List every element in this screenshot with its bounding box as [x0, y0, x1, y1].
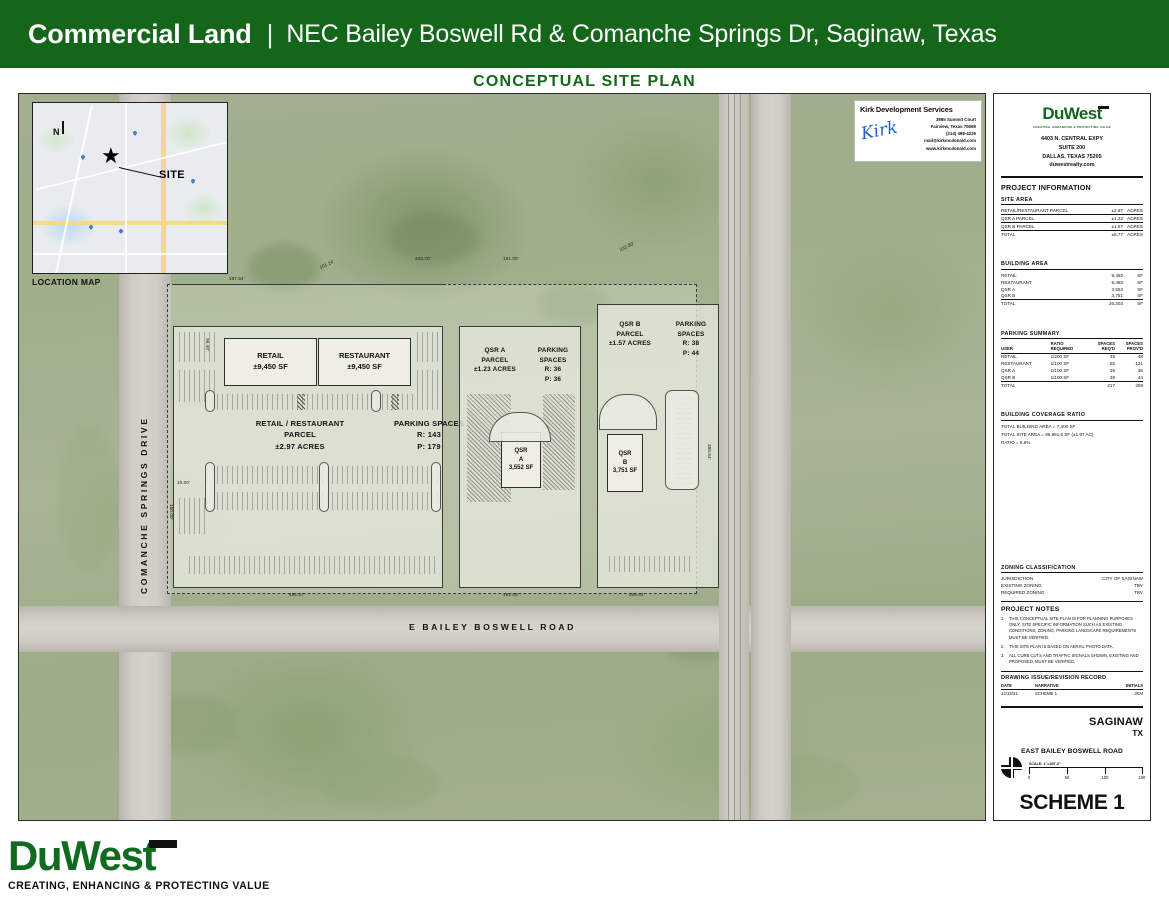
cell-ratio: 1/200 SF [1051, 353, 1088, 360]
duwest-logo-tagline: CREATING, ENHANCING & PROTECTING VALUE [1001, 125, 1143, 129]
rail-line [728, 94, 729, 820]
cell-unit: SF [1123, 286, 1143, 293]
parking-title1: PARKING [525, 346, 581, 356]
north-arrow-icon: N [53, 127, 60, 137]
titleblock-project-name: EAST BAILEY BOSWELL ROAD [1001, 748, 1143, 755]
note-text: THIS SITE PLAN IS BASED ON AERIAL PHOTO … [1009, 644, 1114, 650]
map-pin [132, 130, 138, 136]
site-star-icon: ★ [101, 145, 121, 167]
kirk-development-logo-box: Kirk Development Services Kirk 3985 Summ… [854, 100, 982, 162]
rail-line [734, 94, 735, 820]
qsr-b-parking-label: PARKING SPACES R: 38 P: 44 [663, 320, 719, 358]
dimension-101: 101.24' [319, 259, 335, 270]
cell-unit: ACRES [1123, 222, 1143, 230]
cell-value: ±5.77 [1105, 230, 1123, 237]
address-line2: SUITE 200 [1001, 144, 1143, 153]
revision-initials: JKM [1123, 691, 1143, 696]
project-note: 1. THIS CONCEPTUAL SITE PLAN IS FOR PLAN… [1001, 616, 1143, 641]
cell-value: 3,552 [1085, 286, 1123, 293]
qsr-a-letter: A [519, 456, 523, 465]
qsr-a-label: QSR [514, 447, 527, 456]
parking-stalls [179, 332, 219, 362]
restaurant-building-area: ±9,450 SF [347, 362, 382, 373]
duwest-logo-word: DuWest [1042, 104, 1101, 124]
parking-required: R: 36 [525, 365, 581, 375]
restaurant-building: RESTAURANT ±9,450 SF [318, 338, 411, 386]
parking-island [431, 462, 441, 512]
duwest-address-block: 4403 N. CENTRAL EXPY SUITE 200 DALLAS, T… [1001, 135, 1143, 170]
zoning-row: JURISDICTION CITY OF SAGINAW [1001, 576, 1143, 583]
project-note: 2. THIS SITE PLAN IS BASED ON AERIAL PHO… [1001, 644, 1143, 650]
zoning-label: JURISDICTION [1001, 576, 1033, 581]
cell-value: ±1.57 [1105, 222, 1123, 230]
titleblock-state: TX [1001, 728, 1143, 738]
cell-ratio [1051, 381, 1088, 388]
cell-user: QSR B [1001, 374, 1051, 381]
dimension-10: 10.00' [177, 480, 190, 485]
scale-tick-100: 100 [1101, 775, 1108, 780]
cell-label: TOTAL [1001, 300, 1085, 307]
crosswalk-hatch [391, 394, 399, 410]
north-arrow-stem [62, 121, 64, 134]
header-provd: SPACES PROV'D [1115, 342, 1143, 353]
cell-label: QSR B PARCEL [1001, 222, 1105, 230]
parking-provided: P: 36 [525, 375, 581, 385]
building-area-title: BUILDING AREA [1001, 261, 1143, 269]
scale-bar-wrap: SCALE: 1"=100'-0" 0 50 100 150 [1029, 762, 1143, 774]
header-ratio: RATIO REQUIRED [1051, 342, 1088, 353]
footer-tagline: CREATING, ENHANCING & PROTECTING VALUE [8, 880, 270, 892]
kirk-website: www.kirkmcdonald.com [860, 145, 976, 152]
crosswalk-hatch [297, 394, 305, 410]
revision-date: 12/15/21 [1001, 691, 1035, 696]
cell-value: ±1.23 [1105, 215, 1123, 223]
parking-island [205, 462, 215, 512]
table-row: QSR A PARCEL ±1.23 ACRES [1001, 215, 1143, 223]
zoning-title: ZONING CLASSIFICATION [1001, 565, 1143, 573]
sheet-number: SCHEME 1 [994, 791, 1150, 815]
qsr-b-label: QSR [618, 450, 631, 459]
cell-ratio: 1/100 SF [1051, 374, 1088, 381]
note-number: 2. [1001, 644, 1009, 650]
map-road [125, 103, 127, 274]
cell-label: RETAIL [1001, 272, 1085, 279]
dimension-232: 232.80' [619, 241, 635, 253]
table-header-row: USER RATIO REQUIRED SPACES REQ'D SPACES … [1001, 342, 1143, 353]
table-row: RETAIL 9,450 SF [1001, 272, 1143, 279]
parking-title2: SPACES [663, 330, 719, 340]
cell-ratio: 1/100 SF [1051, 360, 1088, 367]
parking-island [371, 390, 381, 412]
parcel-acres: ±2.97 ACRES [215, 441, 385, 452]
zoning-label: REQUIRED ZONING [1001, 590, 1044, 595]
road-label-bailey-boswell: E BAILEY BOSWELL ROAD [409, 622, 576, 632]
table-row: RESTAURANT 9,450 SF [1001, 279, 1143, 286]
dimension-208: 208.61' [629, 592, 645, 597]
scale-tick-50: 50 [1065, 775, 1070, 780]
titleblock-city: SAGINAW [1001, 716, 1143, 728]
revision-header-date: DATE [1001, 683, 1035, 688]
coverage-line1: TOTAL BUILDING AREA = 7,400 SF [1001, 423, 1143, 431]
coverage-line2: TOTAL SITE AREA = 85,981.5 SF (±1.97 AC) [1001, 431, 1143, 439]
table-row: RETAIL/RESTAURANT PARCEL ±2.97 ACRES [1001, 207, 1143, 214]
map-pin [190, 178, 196, 184]
header-reqd-l2: REQ'D [1102, 346, 1115, 351]
parcel-name2: PARCEL [463, 356, 527, 366]
zoning-value: TBV [1134, 590, 1143, 595]
cell-unit: ACRES [1123, 215, 1143, 223]
parking-stalls [609, 556, 691, 572]
parcel-name2: PARCEL [599, 330, 661, 340]
cell-reqd: 38 [1087, 374, 1115, 381]
note-text: ALL CURB CUTS AND TRAFFIC SIGNALS SHOWN,… [1009, 653, 1143, 666]
banner-subtitle: NEC Bailey Boswell Rd & Comanche Springs… [286, 20, 996, 49]
cell-label: RETAIL/RESTAURANT PARCEL [1001, 207, 1105, 214]
cell-label: QSR B [1001, 292, 1085, 299]
header-ratio-l2: REQUIRED [1051, 346, 1074, 351]
parcel-name: RETAIL / RESTAURANT [215, 418, 385, 429]
revision-header-initials: INITIALS [1123, 683, 1143, 688]
location-map-caption: LOCATION MAP [32, 277, 101, 287]
dimension-203: 203.70' [415, 256, 431, 261]
footer-logo-bar [149, 840, 177, 848]
cell-value: 26,203 [1085, 300, 1123, 307]
north-compass-icon [1001, 757, 1022, 778]
cell-unit: SF [1123, 300, 1143, 307]
cell-unit: ACRES [1123, 207, 1143, 214]
parking-island [665, 390, 699, 490]
location-map-inset: N ★ SITE [32, 102, 228, 274]
parking-island [205, 390, 215, 412]
map-pin [88, 224, 94, 230]
scale-tick-150: 150 [1138, 775, 1145, 780]
cell-user: RESTAURANT [1001, 360, 1051, 367]
map-road [55, 105, 93, 274]
field-patch [319, 754, 439, 810]
divider [1001, 176, 1143, 178]
cell-value: 9,450 [1085, 279, 1123, 286]
cell-reqd: 95 [1087, 360, 1115, 367]
address-website: duwestrealty.com [1001, 161, 1143, 170]
coverage-line3: RATIO = 8.6% [1001, 439, 1143, 447]
rail-line [740, 94, 741, 820]
parcel-acres: ±1.57 ACRES [599, 339, 661, 349]
qsr-b-building: QSR B 3,751 SF [607, 434, 643, 492]
parking-stalls [417, 332, 441, 362]
footer-logo-text: DuWest [8, 832, 155, 879]
dimension-rule [173, 284, 443, 285]
parcel-acres: ±1.23 ACRES [463, 365, 527, 375]
kirk-title: Kirk Development Services [860, 105, 976, 114]
parking-stalls [179, 498, 205, 534]
parking-summary-table: USER RATIO REQUIRED SPACES REQ'D SPACES … [1001, 342, 1143, 389]
cell-value: 3,751 [1085, 292, 1123, 299]
cell-unit: SF [1123, 279, 1143, 286]
field-patch [59, 424, 119, 574]
header-reqd: SPACES REQ'D [1087, 342, 1115, 353]
zoning-row: REQUIRED ZONING TBV [1001, 589, 1143, 596]
table-row: QSR A 3,552 SF [1001, 286, 1143, 293]
parking-stalls [189, 556, 439, 574]
cell-provd: 131 [1115, 360, 1143, 367]
cell-unit: SF [1123, 272, 1143, 279]
cell-reqd: 48 [1087, 353, 1115, 360]
retail-restaurant-parcel-label: RETAIL / RESTAURANT PARCEL ±2.97 ACRES [215, 418, 385, 452]
page-header-banner: Commercial Land | NEC Bailey Boswell Rd … [0, 0, 1169, 68]
retail-building: RETAIL ±9,450 SF [224, 338, 317, 386]
building-area-table: RETAIL 9,450 SF RESTAURANT 9,450 SF QSR … [1001, 272, 1143, 307]
parking-title1: PARKING [663, 320, 719, 330]
cell-reqd: 36 [1087, 367, 1115, 374]
parcel-name: QSR A [463, 346, 527, 356]
cell-unit: SF [1123, 292, 1143, 299]
table-row: QSR A 1/100 SF 36 36 [1001, 367, 1143, 374]
cell-label: QSR A PARCEL [1001, 215, 1105, 223]
sheet-subtitle: CONCEPTUAL SITE PLAN [0, 68, 1169, 95]
cell-reqd: 217 [1087, 381, 1115, 388]
table-row: TOTAL 217 259 [1001, 381, 1143, 388]
parking-summary-title: PARKING SUMMARY [1001, 331, 1143, 339]
cell-label: TOTAL [1001, 230, 1105, 237]
map-highway [161, 103, 166, 274]
retail-building-label: RETAIL [257, 351, 284, 362]
parking-stalls [207, 394, 439, 410]
duwest-footer-logo: DuWest CREATING, ENHANCING & PROTECTING … [8, 835, 270, 892]
site-area-table: RETAIL/RESTAURANT PARCEL ±2.97 ACRES QSR… [1001, 207, 1143, 237]
address-line1: 4403 N. CENTRAL EXPY [1001, 135, 1143, 144]
cell-provd: 44 [1115, 374, 1143, 381]
note-number: 3. [1001, 653, 1009, 666]
highway-road [751, 94, 791, 820]
dimension-150: 150.00' [169, 504, 174, 520]
cell-unit: ACRES [1123, 230, 1143, 237]
note-number: 1. [1001, 616, 1009, 641]
duwest-logo-bar [1098, 106, 1109, 109]
revision-header-row: DATE NARRATIVE INITIALS [1001, 683, 1143, 690]
project-info-panel: DuWest CREATING, ENHANCING & PROTECTING … [993, 93, 1151, 821]
scale-tick-0: 0 [1028, 775, 1030, 780]
dimension-191-bottom: 191.00' [503, 592, 519, 597]
divider [1001, 706, 1143, 708]
site-area-title: SITE AREA [1001, 197, 1143, 205]
dimension-96: 96.40' [205, 338, 210, 351]
cell-label: QSR A [1001, 286, 1085, 293]
cell-user: TOTAL [1001, 381, 1051, 388]
qsr-b-letter: B [623, 459, 627, 468]
cell-label: RESTAURANT [1001, 279, 1085, 286]
address-line3: DALLAS, TEXAS 75205 [1001, 153, 1143, 162]
qsr-a-parking-label: PARKING SPACES R: 36 P: 36 [525, 346, 581, 384]
zoning-row: EXISTING ZONING TBV [1001, 582, 1143, 589]
banner-title: Commercial Land [28, 19, 252, 50]
parcel-name: QSR B [599, 320, 661, 330]
tree-cluster [389, 214, 479, 264]
parcel-name2: PARCEL [215, 429, 385, 440]
parking-required: R: 38 [663, 339, 719, 349]
dimension-380: 380.54' [707, 444, 712, 460]
railroad-corridor [719, 94, 749, 820]
dimension-191-top: 191.00' [503, 256, 519, 261]
table-row: TOTAL ±5.77 ACRES [1001, 230, 1143, 237]
table-row: TOTAL 26,203 SF [1001, 300, 1143, 307]
parking-provided: P: 44 [663, 349, 719, 359]
qsr-b-parcel-label: QSR B PARCEL ±1.57 ACRES [599, 320, 661, 349]
header-provd-l2: PROV'D [1127, 346, 1143, 351]
table-row: QSR B 3,751 SF [1001, 292, 1143, 299]
map-pin [118, 228, 124, 234]
header-user: USER [1001, 342, 1051, 353]
qsr-b-area: 3,751 SF [613, 467, 637, 476]
cell-ratio: 1/100 SF [1051, 367, 1088, 374]
qsr-a-parcel-label: QSR A PARCEL ±1.23 ACRES [463, 346, 527, 375]
dimension-485: 485.47' [289, 592, 305, 597]
map-highway [33, 221, 228, 225]
scale-bar: 0 50 100 150 [1029, 767, 1143, 774]
cell-user: QSR A [1001, 367, 1051, 374]
table-row: RESTAURANT 1/100 SF 95 131 [1001, 360, 1143, 367]
revision-record-title: DRAWING ISSUE/REVISION RECORD [1001, 675, 1143, 681]
drawing-sheet: RETAIL ±9,450 SF RESTAURANT ±9,450 SF RE… [18, 93, 1151, 821]
footer-logo-word: DuWest [8, 835, 155, 877]
cell-value: ±2.97 [1105, 207, 1123, 214]
map-road [36, 141, 227, 190]
revision-narrative: SCHEME 1 [1035, 691, 1123, 696]
zoning-label: EXISTING ZONING [1001, 583, 1042, 588]
scale-block: SCALE: 1"=100'-0" 0 50 100 150 [1001, 757, 1143, 778]
project-notes-title: PROJECT NOTES [1001, 606, 1143, 613]
note-text: THIS CONCEPTUAL SITE PLAN IS FOR PLANNIN… [1009, 616, 1143, 641]
duwest-logo: DuWest CREATING, ENHANCING & PROTECTING … [1001, 104, 1143, 129]
cell-provd: 259 [1115, 381, 1143, 388]
site-marker-label: SITE [159, 169, 185, 181]
qsr-a-area: 3,552 SF [509, 464, 533, 473]
divider [1001, 601, 1143, 602]
cell-user: RETAIL [1001, 353, 1051, 360]
cell-provd: 48 [1115, 353, 1143, 360]
map-road [33, 253, 228, 255]
cell-value: 9,450 [1085, 272, 1123, 279]
table-row: QSR B 1/100 SF 38 44 [1001, 374, 1143, 381]
road-label-comanche-springs: COMANCHE SPRINGS DRIVE [139, 394, 149, 594]
coverage-title: BUILDING COVERAGE RATIO [1001, 412, 1143, 420]
table-row: RETAIL 1/200 SF 48 48 [1001, 353, 1143, 360]
zoning-value: TBV [1134, 583, 1143, 588]
dimension-197: 197.54' [229, 276, 245, 281]
divider [1001, 671, 1143, 672]
table-row: QSR B PARCEL ±1.57 ACRES [1001, 222, 1143, 230]
revision-row: 12/15/21 SCHEME 1 JKM [1001, 690, 1143, 696]
parking-island [319, 462, 329, 512]
scale-label: SCALE: 1"=100'-0" [1029, 762, 1143, 766]
landscape-hatch [543, 394, 575, 490]
revision-header-narrative: NARRATIVE [1035, 683, 1123, 688]
retail-building-area: ±9,450 SF [253, 362, 288, 373]
project-note: 3. ALL CURB CUTS AND TRAFFIC SIGNALS SHO… [1001, 653, 1143, 666]
banner-separator: | [267, 19, 274, 50]
parking-title2: SPACES [525, 356, 581, 366]
restaurant-building-label: RESTAURANT [339, 351, 390, 362]
project-information-title: PROJECT INFORMATION [1001, 183, 1143, 192]
site-plan-aerial: RETAIL ±9,450 SF RESTAURANT ±9,450 SF RE… [18, 93, 986, 821]
cell-provd: 36 [1115, 367, 1143, 374]
zoning-value: CITY OF SAGINAW [1102, 576, 1143, 581]
